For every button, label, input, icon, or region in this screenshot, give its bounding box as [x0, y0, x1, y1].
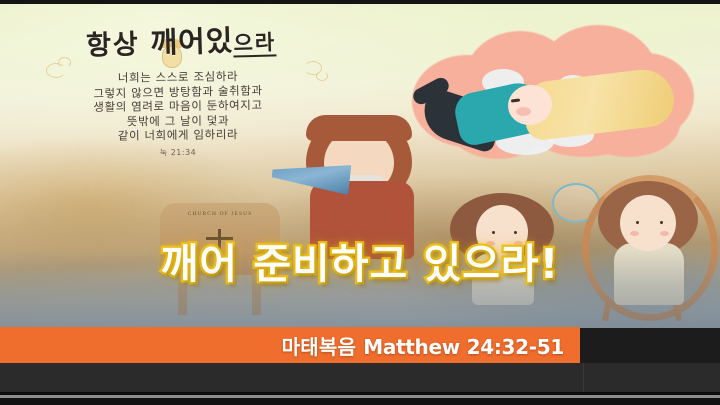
poster-headline-part3: 으라 [233, 30, 276, 57]
scripture-caption-bar: 마태복음 Matthew 24:32-51 [0, 327, 580, 363]
preacher-figure [300, 115, 430, 255]
main-headline: 깨어 준비하고 있으라! [0, 238, 720, 290]
caption-korean-book: 마태복음 [282, 335, 356, 359]
video-frame: 항상 깨어있으라 너희는 스스로 조심하라 그렇지 않으면 방탕함과 술취함과 … [0, 0, 720, 405]
poster-headline: 항상 깨어있으라 [23, 15, 338, 66]
band-seam [583, 363, 584, 392]
poster-body-line: 같이 너희에게 임하리라 [18, 126, 338, 144]
poster-body-text: 너희는 스스로 조심하라 그렇지 않으면 방탕함과 술취함과 생활의 염려로 마… [18, 70, 338, 160]
caption-english-reference: Matthew 24:32-51 [363, 335, 564, 359]
player-bottom-band [0, 363, 720, 405]
poster-text-block: 항상 깨어있으라 너희는 스스로 조심하라 그렇지 않으면 방탕함과 술취함과 … [18, 19, 338, 160]
poster-headline-part1: 항상 [86, 29, 141, 61]
poster-headline-part2: 깨어있 [150, 24, 234, 60]
poster-scripture-reference: 눅 21:34 [18, 144, 338, 162]
caption-text: 마태복음 Matthew 24:32-51 [282, 331, 580, 360]
band-base [0, 398, 720, 405]
lectern-inscription: CHURCH OF JESUS [160, 211, 280, 217]
top-letterbox [0, 0, 720, 4]
sleeping-girl-figure [430, 53, 680, 163]
